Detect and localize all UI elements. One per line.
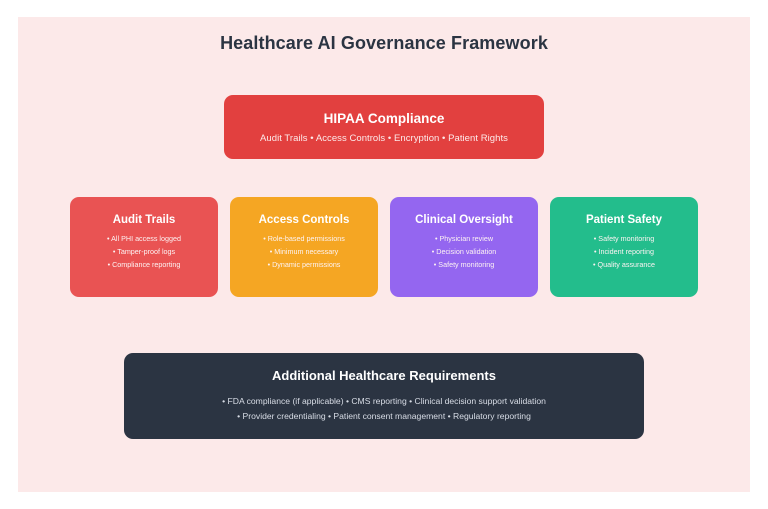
pillar-title: Patient Safety bbox=[586, 214, 662, 226]
pillar-item: • Compliance reporting bbox=[108, 261, 181, 269]
pillar-item: • Role-based permissions bbox=[263, 235, 345, 243]
pillar-item: • All PHI access logged bbox=[107, 235, 181, 243]
hipaa-compliance-banner[interactable]: HIPAA Compliance Audit Trails • Access C… bbox=[224, 95, 544, 159]
footer-title: Additional Healthcare Requirements bbox=[272, 368, 496, 383]
pillar-item: • Incident reporting bbox=[594, 248, 654, 256]
pillar-title: Clinical Oversight bbox=[415, 214, 513, 226]
pillar-item: • Dynamic permissions bbox=[268, 261, 341, 269]
pillar-card-access-controls[interactable]: Access Controls • Role-based permissions… bbox=[230, 197, 378, 297]
additional-requirements-panel[interactable]: Additional Healthcare Requirements • FDA… bbox=[124, 353, 644, 439]
pillar-item-list: • Role-based permissions • Minimum neces… bbox=[263, 235, 345, 269]
footer-line: • FDA compliance (if applicable) • CMS r… bbox=[222, 394, 546, 409]
pillar-card-row: Audit Trails • All PHI access logged • T… bbox=[70, 197, 698, 297]
pillar-title: Access Controls bbox=[259, 214, 350, 226]
pillar-item: • Safety monitoring bbox=[594, 235, 654, 243]
pillar-item: • Safety monitoring bbox=[434, 261, 494, 269]
pillar-item-list: • All PHI access logged • Tamper-proof l… bbox=[107, 235, 181, 269]
pillar-item-list: • Safety monitoring • Incident reporting… bbox=[593, 235, 655, 269]
hipaa-banner-subtitle: Audit Trails • Access Controls • Encrypt… bbox=[260, 133, 508, 144]
pillar-card-patient-safety[interactable]: Patient Safety • Safety monitoring • Inc… bbox=[550, 197, 698, 297]
pillar-item: • Quality assurance bbox=[593, 261, 655, 269]
pillar-item: • Minimum necessary bbox=[270, 248, 338, 256]
footer-line: • Provider credentialing • Patient conse… bbox=[237, 409, 531, 424]
pillar-item: • Tamper-proof logs bbox=[113, 248, 175, 256]
pillar-item-list: • Physician review • Decision validation… bbox=[432, 235, 496, 269]
hipaa-banner-title: HIPAA Compliance bbox=[324, 111, 445, 126]
page-title: Healthcare AI Governance Framework bbox=[18, 33, 750, 54]
pillar-item: • Decision validation bbox=[432, 248, 496, 256]
pillar-item: • Physician review bbox=[435, 235, 493, 243]
framework-canvas: Healthcare AI Governance Framework HIPAA… bbox=[18, 17, 750, 492]
pillar-card-audit-trails[interactable]: Audit Trails • All PHI access logged • T… bbox=[70, 197, 218, 297]
pillar-card-clinical-oversight[interactable]: Clinical Oversight • Physician review • … bbox=[390, 197, 538, 297]
pillar-title: Audit Trails bbox=[113, 214, 176, 226]
